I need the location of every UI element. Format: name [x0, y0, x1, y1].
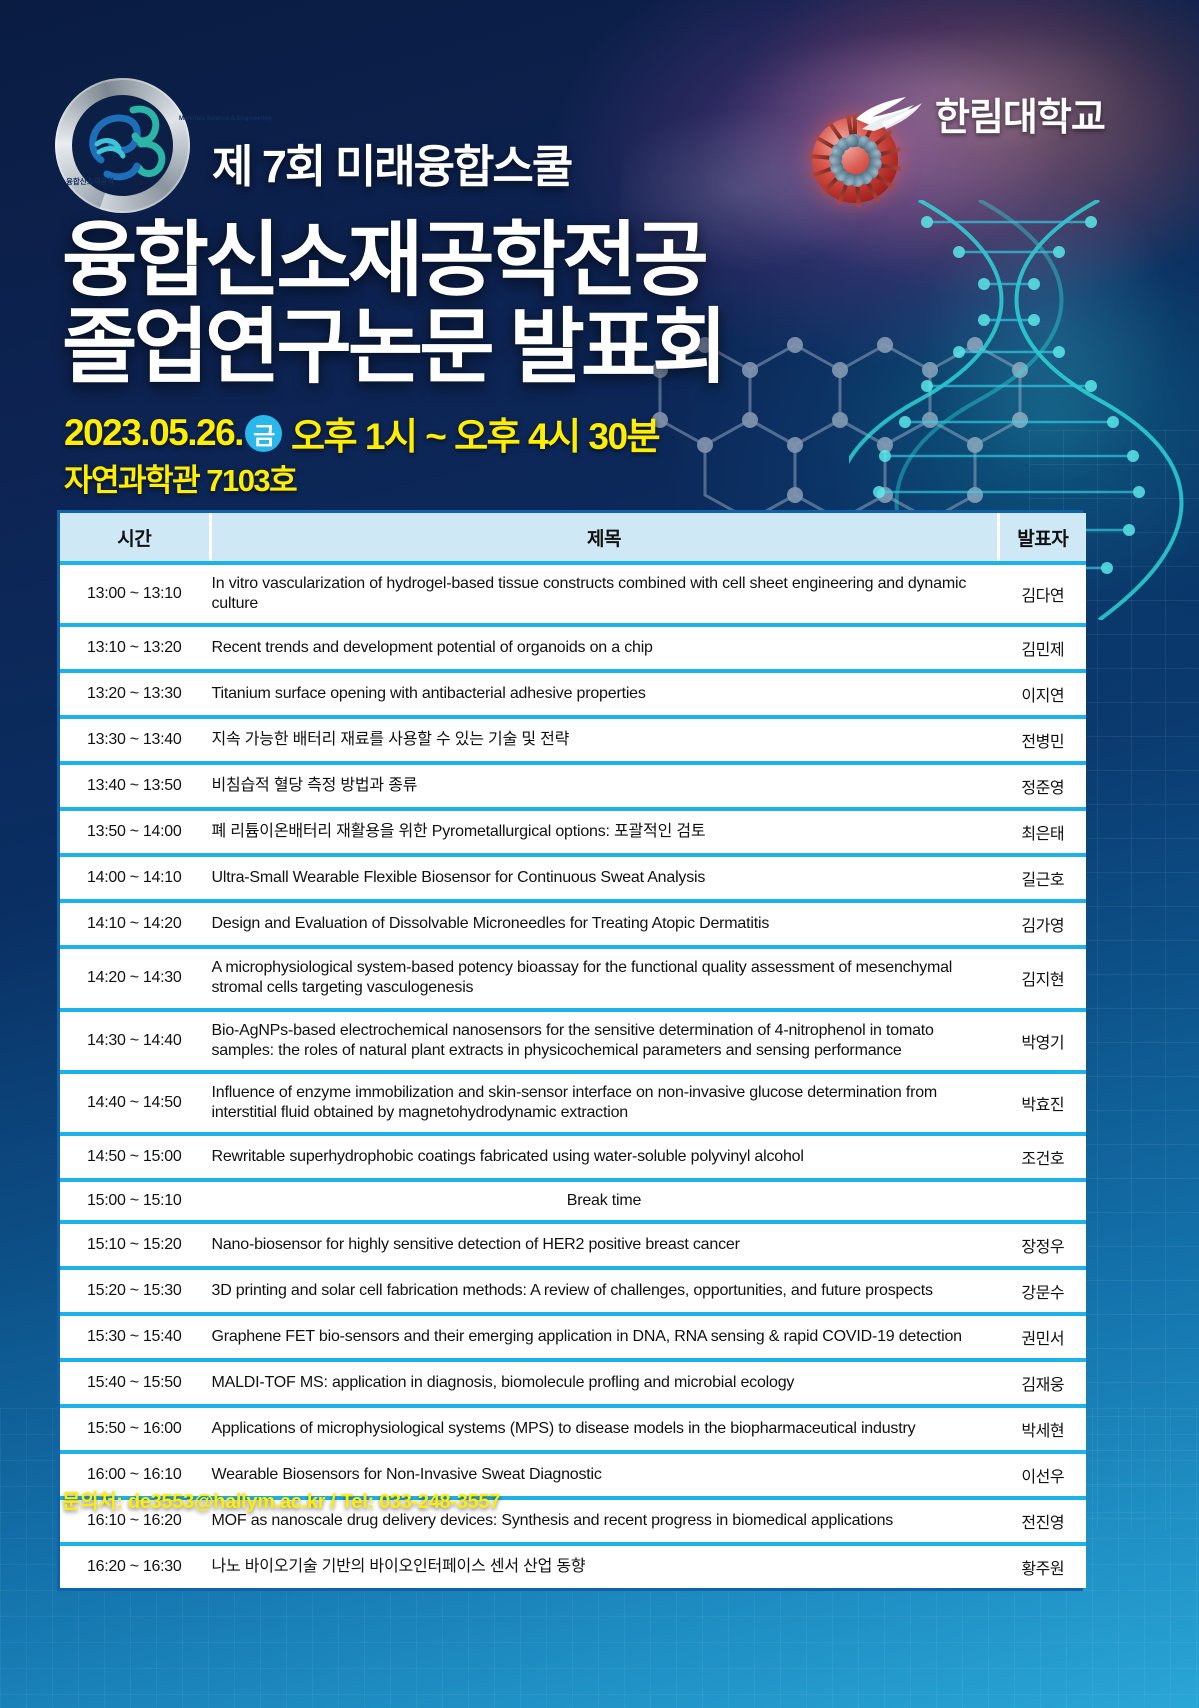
event-venue: 자연과학관 7103호 — [64, 455, 296, 500]
cell-presenter: 박영기 — [998, 1010, 1086, 1072]
cell-presenter: 길근호 — [998, 855, 1086, 901]
cell-time: 14:10 ~ 14:20 — [60, 901, 210, 947]
cell-title: 3D printing and solar cell fabrication m… — [210, 1268, 998, 1314]
cell-presenter: 정준영 — [998, 763, 1086, 809]
table-row: 13:50 ~ 14:00폐 리튬이온배터리 재활용을 위한 Pyrometal… — [60, 809, 1086, 855]
cell-time: 13:00 ~ 13:10 — [60, 563, 210, 625]
cell-title: A microphysiological system-based potenc… — [210, 947, 998, 1009]
cell-presenter: 강문수 — [998, 1268, 1086, 1314]
table-row: 13:00 ~ 13:10In vitro vascularization of… — [60, 563, 1086, 625]
poster-title: 융합신소재공학전공 졸업연구논문 발표회 — [62, 218, 724, 392]
table-row: 14:50 ~ 15:00Rewritable superhydrophobic… — [60, 1134, 1086, 1180]
poster-canvas: 융합신소재공학 Materials Science & Engineering … — [0, 0, 1199, 1708]
table-row: 13:30 ~ 13:40지속 가능한 배터리 재료를 사용할 수 있는 기술 … — [60, 717, 1086, 763]
column-header-title: 제목 — [210, 513, 998, 563]
cell-time: 14:40 ~ 14:50 — [60, 1072, 210, 1134]
contact-info: 문의처: de3553@hallym.ac.kr / Tel: 033-248-… — [62, 1485, 500, 1514]
hallym-wing-icon — [852, 89, 926, 137]
cell-presenter: 박세현 — [998, 1406, 1086, 1452]
cell-title: Recent trends and development potential … — [210, 625, 998, 671]
schedule-table: 시간 제목 발표자 13:00 ~ 13:10In vitro vascular… — [60, 513, 1086, 1588]
cell-title: 비침습적 혈당 측정 방법과 종류 — [210, 763, 998, 809]
cell-time: 13:20 ~ 13:30 — [60, 671, 210, 717]
cell-presenter: 최은태 — [998, 809, 1086, 855]
event-datetime: 2023.05.26. 금 오후 1시 ~ 오후 4시 30분 — [64, 406, 659, 460]
event-time-range: 오후 1시 ~ 오후 4시 30분 — [291, 406, 659, 460]
cell-presenter: 김가영 — [998, 901, 1086, 947]
event-day-badge: 금 — [245, 415, 282, 452]
schedule-table-head: 시간 제목 발표자 — [60, 513, 1086, 563]
cell-title: Graphene FET bio-sensors and their emerg… — [210, 1314, 998, 1360]
cell-time: 13:30 ~ 13:40 — [60, 717, 210, 763]
cell-time: 15:40 ~ 15:50 — [60, 1360, 210, 1406]
table-row: 14:40 ~ 14:50Influence of enzyme immobil… — [60, 1072, 1086, 1134]
cell-presenter: 황주원 — [998, 1544, 1086, 1588]
event-kicker: 제 7회 미래융합스쿨 — [212, 130, 571, 195]
cell-title: 나노 바이오기술 기반의 바이오인터페이스 센서 산업 동향 — [210, 1544, 998, 1588]
cell-break-label: Break time — [210, 1180, 998, 1222]
table-row: 15:20 ~ 15:303D printing and solar cell … — [60, 1268, 1086, 1314]
cell-presenter: 이선우 — [998, 1452, 1086, 1498]
cell-presenter: 박효진 — [998, 1072, 1086, 1134]
cell-time: 16:20 ~ 16:30 — [60, 1544, 210, 1588]
table-row: 15:40 ~ 15:50MALDI-TOF MS: application i… — [60, 1360, 1086, 1406]
cell-presenter: 권민서 — [998, 1314, 1086, 1360]
table-row: 15:10 ~ 15:20Nano-biosensor for highly s… — [60, 1222, 1086, 1268]
table-header-row: 시간 제목 발표자 — [60, 513, 1086, 563]
cell-title: Design and Evaluation of Dissolvable Mic… — [210, 901, 998, 947]
cell-title: Applications of microphysiological syste… — [210, 1406, 998, 1452]
cell-time: 15:10 ~ 15:20 — [60, 1222, 210, 1268]
cell-presenter: 조건호 — [998, 1134, 1086, 1180]
table-row: 14:10 ~ 14:20Design and Evaluation of Di… — [60, 901, 1086, 947]
poster-title-line1: 융합신소재공학전공 — [62, 215, 705, 306]
table-row: 13:10 ~ 13:20Recent trends and developme… — [60, 625, 1086, 671]
cell-title: Ultra-Small Wearable Flexible Biosensor … — [210, 855, 998, 901]
cell-presenter: 전병민 — [998, 717, 1086, 763]
table-row: 14:30 ~ 14:40Bio-AgNPs-based electrochem… — [60, 1010, 1086, 1072]
cell-title: 지속 가능한 배터리 재료를 사용할 수 있는 기술 및 전략 — [210, 717, 998, 763]
cell-presenter: 이지연 — [998, 671, 1086, 717]
table-row: 14:00 ~ 14:10Ultra-Small Wearable Flexib… — [60, 855, 1086, 901]
cell-time: 13:50 ~ 14:00 — [60, 809, 210, 855]
table-row: 15:00 ~ 15:10Break time — [60, 1180, 1086, 1222]
department-logo: 융합신소재공학 Materials Science & Engineering — [55, 78, 190, 213]
cell-title: Nano-biosensor for highly sensitive dete… — [210, 1222, 998, 1268]
cell-title: MALDI-TOF MS: application in diagnosis, … — [210, 1360, 998, 1406]
table-row: 16:20 ~ 16:30나노 바이오기술 기반의 바이오인터페이스 센서 산업… — [60, 1544, 1086, 1588]
column-header-presenter: 발표자 — [998, 513, 1086, 563]
event-date: 2023.05.26. — [64, 412, 243, 454]
cell-time: 15:20 ~ 15:30 — [60, 1268, 210, 1314]
cell-title: Rewritable superhydrophobic coatings fab… — [210, 1134, 998, 1180]
poster-title-line2: 졸업연구논문 발표회 — [62, 305, 724, 392]
cell-title: Influence of enzyme immobilization and s… — [210, 1072, 998, 1134]
department-logo-rim-text: 융합신소재공학 Materials Science & Engineering — [55, 78, 190, 213]
cell-title: Titanium surface opening with antibacter… — [210, 671, 998, 717]
table-row: 15:30 ~ 15:40Graphene FET bio-sensors an… — [60, 1314, 1086, 1360]
university-name: 한림대학교 — [935, 86, 1105, 141]
cell-time: 13:10 ~ 13:20 — [60, 625, 210, 671]
cell-presenter: 김재웅 — [998, 1360, 1086, 1406]
table-row: 15:50 ~ 16:00Applications of microphysio… — [60, 1406, 1086, 1452]
poster-header: 융합신소재공학 Materials Science & Engineering … — [0, 0, 1199, 520]
schedule-table-body: 13:00 ~ 13:10In vitro vascularization of… — [60, 563, 1086, 1588]
cell-time: 15:30 ~ 15:40 — [60, 1314, 210, 1360]
cell-time: 14:20 ~ 14:30 — [60, 947, 210, 1009]
cell-presenter: 김지현 — [998, 947, 1086, 1009]
cell-presenter: 전진영 — [998, 1498, 1086, 1544]
table-row: 13:40 ~ 13:50비침습적 혈당 측정 방법과 종류정준영 — [60, 763, 1086, 809]
cell-presenter: 장정우 — [998, 1222, 1086, 1268]
column-header-time: 시간 — [60, 513, 210, 563]
table-row: 14:20 ~ 14:30A microphysiological system… — [60, 947, 1086, 1009]
cell-time: 13:40 ~ 13:50 — [60, 763, 210, 809]
cell-title: In vitro vascularization of hydrogel-bas… — [210, 563, 998, 625]
cell-time: 14:00 ~ 14:10 — [60, 855, 210, 901]
table-row: 13:20 ~ 13:30Titanium surface opening wi… — [60, 671, 1086, 717]
cell-time: 15:00 ~ 15:10 — [60, 1180, 210, 1222]
schedule-table-container: 시간 제목 발표자 13:00 ~ 13:10In vitro vascular… — [57, 510, 1083, 1591]
cell-title: 폐 리튬이온배터리 재활용을 위한 Pyrometallurgical opti… — [210, 809, 998, 855]
cell-presenter: 김민제 — [998, 625, 1086, 671]
cell-time: 14:30 ~ 14:40 — [60, 1010, 210, 1072]
university-logo: 한림대학교 — [852, 82, 1172, 144]
cell-presenter — [998, 1180, 1086, 1222]
cell-time: 14:50 ~ 15:00 — [60, 1134, 210, 1180]
cell-presenter: 김다연 — [998, 563, 1086, 625]
cell-title: Bio-AgNPs-based electrochemical nanosens… — [210, 1010, 998, 1072]
cell-time: 15:50 ~ 16:00 — [60, 1406, 210, 1452]
